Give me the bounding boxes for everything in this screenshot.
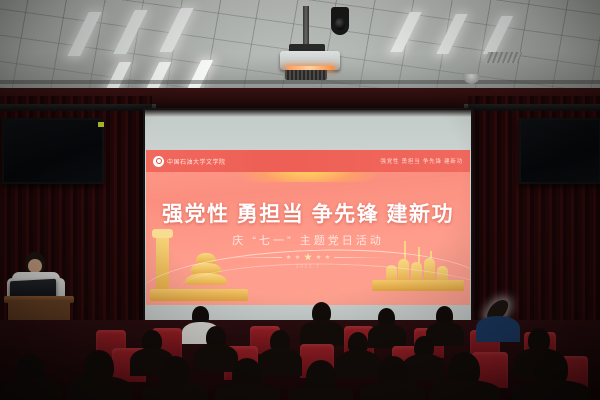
wall-display-label <box>98 122 104 127</box>
audience-shoulders <box>194 344 238 372</box>
audience-shoulders <box>258 348 302 376</box>
wall-display-left[interactable] <box>2 118 104 184</box>
audience-shoulders <box>336 350 380 378</box>
audience-shoulders <box>66 376 132 400</box>
ceiling-beam <box>0 80 600 84</box>
audience-shoulders <box>402 354 446 382</box>
projection-screen[interactable]: 中国石油大学文学院 强党性 勇担当 争先锋 建新功 强党性 勇担当 争先锋 建新… <box>145 110 471 324</box>
projector-mount-pole <box>303 6 309 48</box>
presentation-slide[interactable]: 中国石油大学文学院 强党性 勇担当 争先锋 建新功 强党性 勇担当 争先锋 建新… <box>146 150 470 305</box>
audience-shoulders <box>288 386 354 400</box>
audience-shoulders <box>214 384 280 400</box>
wall-display-right[interactable] <box>519 118 600 184</box>
ceiling-air-vent <box>484 52 522 63</box>
ceiling-camera-icon <box>331 7 349 35</box>
audience-shoulders <box>512 380 590 400</box>
slide-title: 强党性 勇担当 争先锋 建新功 <box>146 198 470 228</box>
audience-shoulders <box>300 320 344 346</box>
ceiling-projector <box>280 51 340 70</box>
slide-header-band: 中国石油大学文学院 强党性 勇担当 争先锋 建新功 <box>146 150 470 172</box>
audience-shoulders <box>368 324 406 348</box>
screen-top-shadow <box>145 110 471 117</box>
projector-grille <box>285 70 327 80</box>
audience-shoulders <box>428 380 500 400</box>
header-slogan-text: 强党性 勇担当 争先锋 建新功 <box>380 157 463 165</box>
audience-shoulders <box>142 382 208 400</box>
audience-shoulders <box>360 382 426 400</box>
projection-screen-frame: 中国石油大学文学院 强党性 勇担当 争先锋 建新功 强党性 勇担当 争先锋 建新… <box>143 108 473 326</box>
organization-name: 中国石油大学文学院 <box>167 157 226 166</box>
lecture-hall-scene: 中国石油大学文学院 强党性 勇担当 争先锋 建新功 强党性 勇担当 争先锋 建新… <box>0 0 600 400</box>
university-logo-icon <box>153 156 164 167</box>
organization-logo: 中国石油大学文学院 <box>153 156 226 167</box>
ceiling <box>0 0 600 96</box>
presenter-face <box>28 259 42 273</box>
audience-shoulders <box>476 316 520 342</box>
audience-shoulders <box>0 378 62 400</box>
